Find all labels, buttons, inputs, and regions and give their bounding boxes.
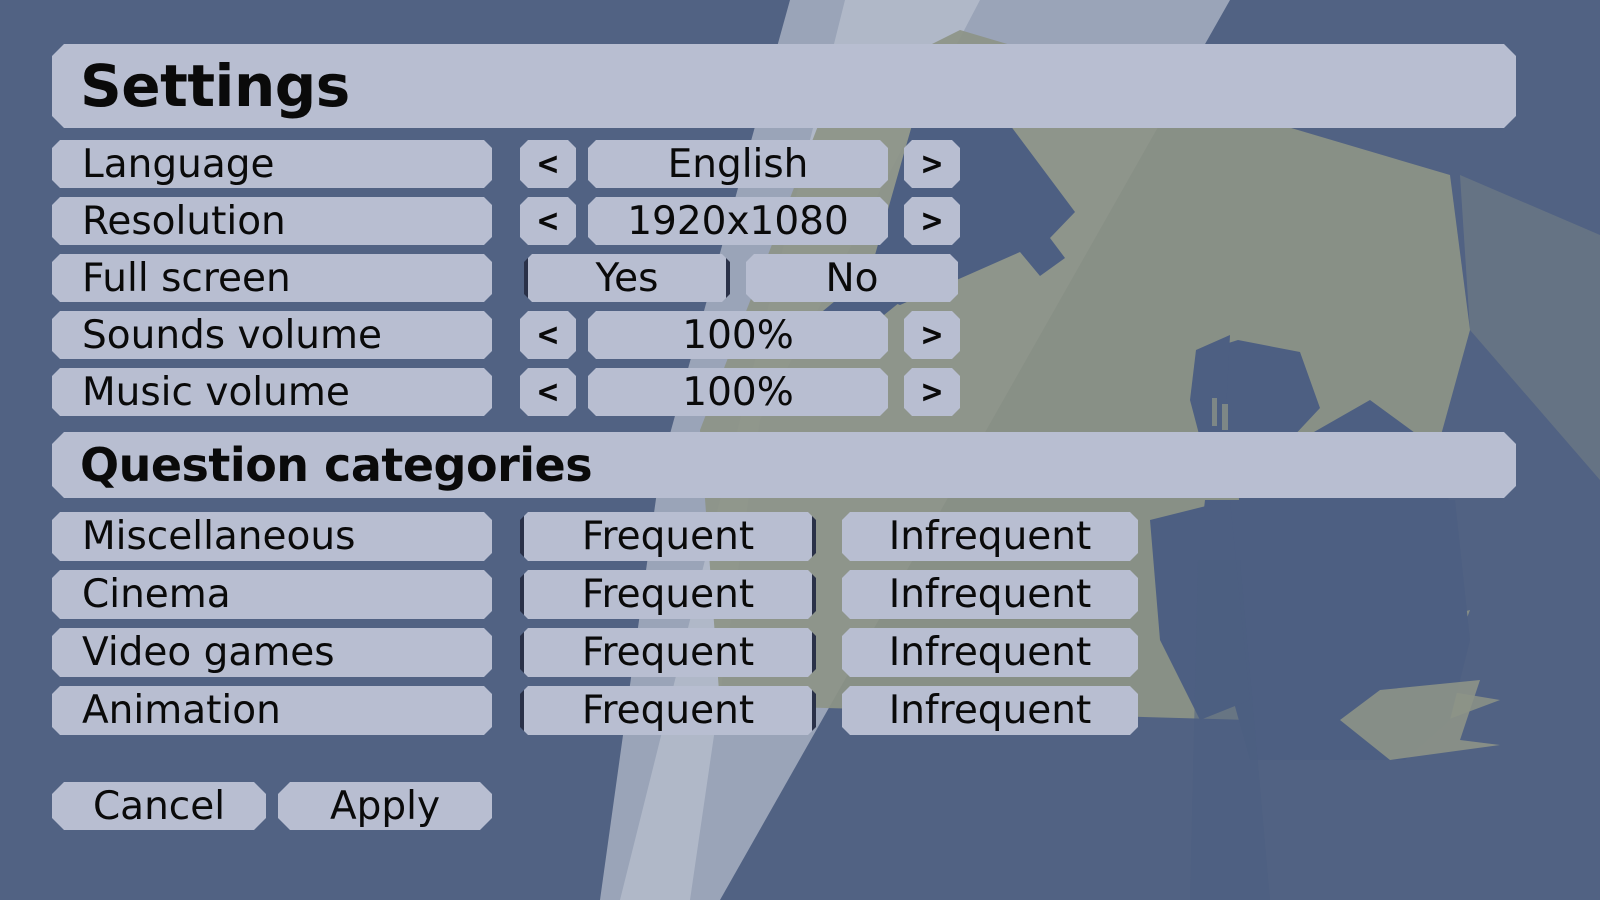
setting-value-text: 1920x1080 xyxy=(627,199,849,244)
setting-value-text: 100% xyxy=(682,370,794,415)
category-option-label: Frequent xyxy=(582,688,754,733)
setting-label-full-screen: Full screen xyxy=(52,254,492,302)
chevron-left-icon-resolution[interactable]: < xyxy=(520,197,576,245)
setting-label-text: Resolution xyxy=(82,199,286,244)
page-title-label: Settings xyxy=(80,52,350,120)
setting-value-resolution: 1920x1080 xyxy=(588,197,888,245)
settings-screen: Settings Language<English>Resolution<192… xyxy=(0,0,1600,900)
cancel-button-label: Cancel xyxy=(93,784,225,829)
chevron-right-glyph: > xyxy=(922,144,942,184)
category-option-cinema-frequent[interactable]: Frequent xyxy=(520,570,816,619)
section-title-label: Question categories xyxy=(80,438,592,492)
setting-value-music-volume: 100% xyxy=(588,368,888,416)
category-option-miscellaneous-frequent[interactable]: Frequent xyxy=(520,512,816,561)
category-option-label: Infrequent xyxy=(889,514,1092,559)
category-option-label: Frequent xyxy=(582,514,754,559)
setting-label-text: Full screen xyxy=(82,256,291,301)
toggle-option-label: Yes xyxy=(596,256,659,301)
chevron-right-icon-sounds-volume[interactable]: > xyxy=(904,311,960,359)
apply-button-label: Apply xyxy=(330,784,440,829)
category-option-video-games-frequent[interactable]: Frequent xyxy=(520,628,816,677)
setting-label-music-volume: Music volume xyxy=(52,368,492,416)
setting-label-language: Language xyxy=(52,140,492,188)
setting-value-text: 100% xyxy=(682,313,794,358)
category-label-cinema: Cinema xyxy=(52,570,492,619)
toggle-option-full-screen-yes[interactable]: Yes xyxy=(524,254,730,302)
chevron-left-glyph: < xyxy=(538,315,558,355)
setting-value-sounds-volume: 100% xyxy=(588,311,888,359)
category-label-miscellaneous: Miscellaneous xyxy=(52,512,492,561)
category-label-text: Miscellaneous xyxy=(82,514,355,559)
chevron-left-glyph: < xyxy=(538,144,558,184)
chevron-right-icon-language[interactable]: > xyxy=(904,140,960,188)
category-option-label: Frequent xyxy=(582,630,754,675)
setting-label-resolution: Resolution xyxy=(52,197,492,245)
toggle-option-label: No xyxy=(825,256,878,301)
category-label-text: Animation xyxy=(82,688,281,733)
category-label-text: Video games xyxy=(82,630,335,675)
category-label-video-games: Video games xyxy=(52,628,492,677)
chevron-left-icon-language[interactable]: < xyxy=(520,140,576,188)
setting-label-sounds-volume: Sounds volume xyxy=(52,311,492,359)
apply-button[interactable]: Apply xyxy=(278,782,492,830)
chevron-right-glyph: > xyxy=(922,315,942,355)
setting-label-text: Language xyxy=(82,142,274,187)
page-title: Settings xyxy=(52,44,1516,128)
chevron-right-icon-music-volume[interactable]: > xyxy=(904,368,960,416)
chevron-right-glyph: > xyxy=(922,201,942,241)
category-option-label: Infrequent xyxy=(889,630,1092,675)
chevron-left-icon-sounds-volume[interactable]: < xyxy=(520,311,576,359)
setting-label-text: Music volume xyxy=(82,370,350,415)
section-title: Question categories xyxy=(52,432,1516,498)
setting-label-text: Sounds volume xyxy=(82,313,382,358)
setting-value-text: English xyxy=(668,142,809,187)
chevron-right-glyph: > xyxy=(922,372,942,412)
chevron-left-glyph: < xyxy=(538,201,558,241)
chevron-right-icon-resolution[interactable]: > xyxy=(904,197,960,245)
chevron-left-icon-music-volume[interactable]: < xyxy=(520,368,576,416)
category-label-animation: Animation xyxy=(52,686,492,735)
category-option-label: Frequent xyxy=(582,572,754,617)
cancel-button[interactable]: Cancel xyxy=(52,782,266,830)
setting-value-language: English xyxy=(588,140,888,188)
category-option-cinema-infrequent[interactable]: Infrequent xyxy=(842,570,1138,619)
category-option-miscellaneous-infrequent[interactable]: Infrequent xyxy=(842,512,1138,561)
category-option-animation-infrequent[interactable]: Infrequent xyxy=(842,686,1138,735)
category-option-label: Infrequent xyxy=(889,688,1092,733)
chevron-left-glyph: < xyxy=(538,372,558,412)
category-option-label: Infrequent xyxy=(889,572,1092,617)
toggle-option-full-screen-no[interactable]: No xyxy=(746,254,958,302)
category-option-video-games-infrequent[interactable]: Infrequent xyxy=(842,628,1138,677)
category-label-text: Cinema xyxy=(82,572,231,617)
category-option-animation-frequent[interactable]: Frequent xyxy=(520,686,816,735)
